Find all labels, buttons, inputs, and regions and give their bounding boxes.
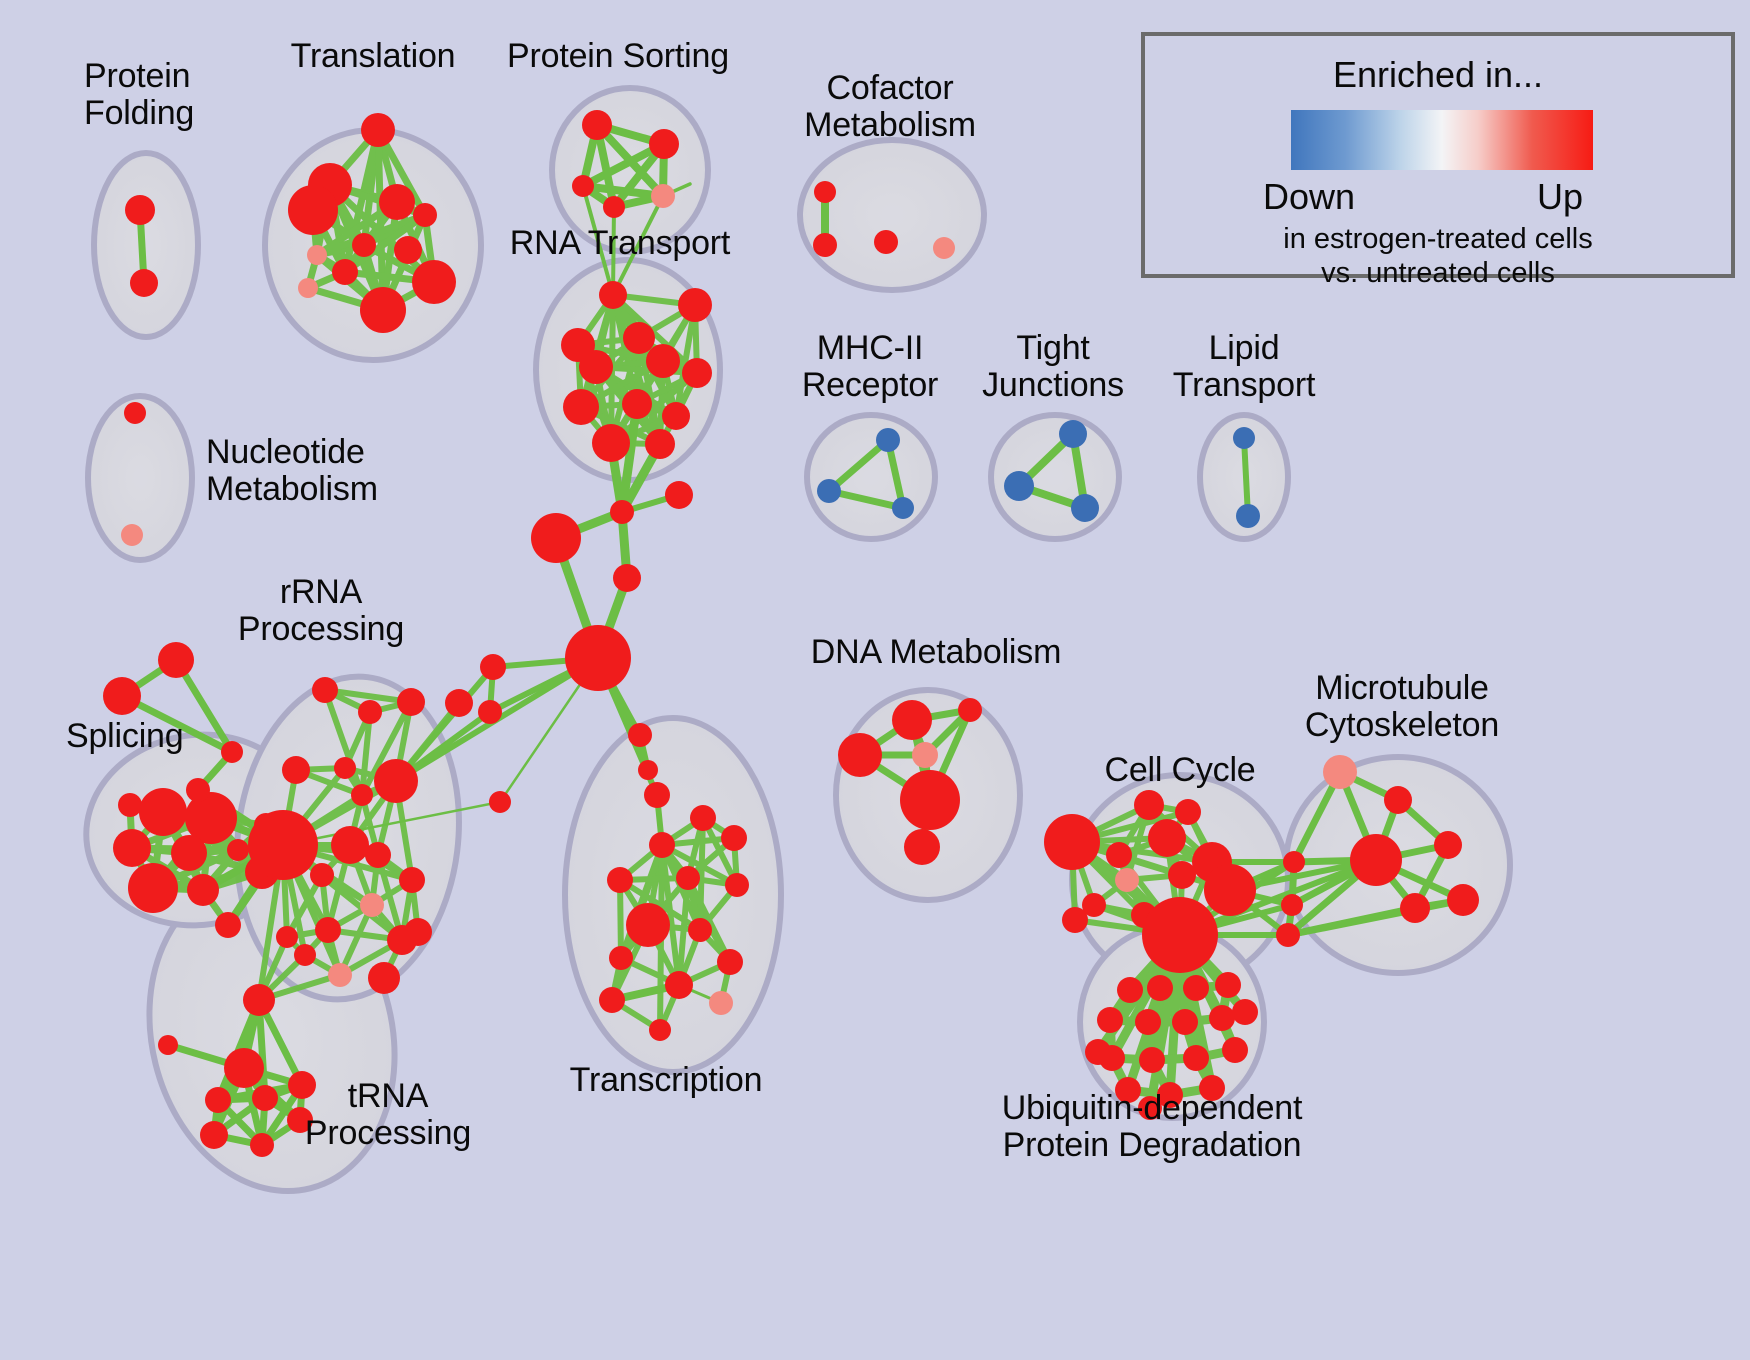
node [480,654,506,680]
node [599,281,627,309]
legend-up-label: Up [1537,176,1583,218]
node [331,826,369,864]
cluster-protein-folding [94,153,198,337]
node [1215,972,1241,998]
node [1236,504,1260,528]
label-protein-folding: Protein Folding [84,58,194,131]
legend-subtitle: in estrogen-treated cells vs. untreated … [1145,222,1731,290]
node [1209,1005,1235,1031]
node [1323,755,1357,789]
node [682,358,712,388]
node [1117,977,1143,1003]
node [379,184,415,220]
node [1148,819,1186,857]
node [1062,907,1088,933]
node [250,1133,274,1157]
node [649,129,679,159]
node [221,741,243,763]
node [103,677,141,715]
node [310,863,334,887]
node [610,500,634,524]
node [360,893,384,917]
node [365,842,391,868]
label-protein-sorting: Protein Sorting [507,38,729,75]
node [200,1121,228,1149]
node [360,287,406,333]
label-transcription: Transcription [570,1062,763,1099]
node [638,760,658,780]
node [1106,842,1132,868]
node [1384,786,1412,814]
node [361,113,395,147]
label-splicing: Splicing [66,718,183,755]
node [933,237,955,259]
node [139,788,187,836]
node [665,481,693,509]
node [592,424,630,462]
node [294,944,316,966]
node [205,1087,231,1113]
node [171,835,207,871]
node [628,723,652,747]
node [838,733,882,777]
node [1232,999,1258,1025]
label-cell-cycle: Cell Cycle [1104,752,1255,789]
node [646,344,680,378]
node [315,917,341,943]
node [334,757,356,779]
node [118,793,142,817]
node [1059,420,1087,448]
node [124,402,146,424]
node [622,389,652,419]
node [813,233,837,257]
node [1134,790,1164,820]
node [613,564,641,592]
node [1183,975,1209,1001]
node [814,181,836,203]
node [113,829,151,867]
node [904,829,940,865]
node [1097,1007,1123,1033]
node [626,903,670,947]
node [582,110,612,140]
node [874,230,898,254]
node [187,874,219,906]
node [224,1048,264,1088]
node [130,269,158,297]
node [1175,799,1201,825]
node [1400,893,1430,923]
node [709,991,733,1015]
node [817,479,841,503]
node [399,867,425,893]
node [413,203,437,227]
node [651,184,675,208]
node [186,778,210,802]
node [227,839,249,861]
node [282,756,310,784]
node [603,196,625,218]
node [298,278,318,298]
node [397,688,425,716]
node [125,195,155,225]
node [394,236,422,264]
node [1350,834,1402,886]
node [1276,923,1300,947]
node [572,175,594,197]
legend-color-gradient [1291,110,1593,170]
node [489,791,511,813]
node [717,949,743,975]
node [328,963,352,987]
node [609,946,633,970]
node [332,259,358,285]
node [531,513,581,563]
node [725,873,749,897]
node [676,866,700,890]
node [644,782,670,808]
label-microtubule-cytoskeleton: Microtubule Cytoskeleton [1305,670,1499,743]
node [1147,975,1173,1001]
node [1115,868,1139,892]
node [1434,831,1462,859]
node [1204,864,1256,916]
label-mhc-ii-receptor: MHC-II Receptor [802,330,938,403]
node [721,825,747,851]
node [1139,1047,1165,1073]
node [368,962,400,994]
label-cofactor-metabolism: Cofactor Metabolism [804,70,976,143]
node [1447,884,1479,916]
node [678,288,712,322]
node [158,1035,178,1055]
node [1142,897,1218,973]
node [900,770,960,830]
node [1281,894,1303,916]
node [243,984,275,1016]
node [892,700,932,740]
node [599,987,625,1013]
node [412,260,456,304]
node [121,524,143,546]
node [215,912,241,938]
legend-down-label: Down [1263,176,1355,218]
node [1044,814,1100,870]
node [1283,851,1305,873]
label-ubiquitin-degradation: Ubiquitin-dependent Protein Degradation [1002,1090,1303,1163]
node [276,926,298,948]
node [912,742,938,768]
enrichment-map-figure: Protein Folding Translation Protein Sort… [0,0,1750,1360]
label-dna-metabolism: DNA Metabolism [811,634,1061,671]
node [607,867,633,893]
cluster-mhc-ii-receptor [807,415,935,539]
node [1168,861,1196,889]
node [1099,1045,1125,1071]
label-translation: Translation [291,38,456,75]
node [623,322,655,354]
node [128,863,178,913]
node [690,805,716,831]
node [374,759,418,803]
node [248,810,318,880]
node [665,971,693,999]
node [1172,1009,1198,1035]
label-rrna-processing: rRNA Processing [238,574,404,647]
label-lipid-transport: Lipid Transport [1173,330,1315,403]
node [252,1085,278,1111]
node [352,233,376,257]
node [649,1019,671,1041]
node [688,918,712,942]
node [1071,494,1099,522]
node [445,689,473,717]
node [312,677,338,703]
label-nucleotide-metabolism: Nucleotide Metabolism [206,434,378,507]
node [876,428,900,452]
node [478,700,502,724]
legend-box: Enriched in... Down Up in estrogen-treat… [1141,32,1735,278]
node [565,625,631,691]
node [649,832,675,858]
legend-title: Enriched in... [1145,54,1731,96]
node [1233,427,1255,449]
node [1222,1037,1248,1063]
node [1004,471,1034,501]
node [307,245,327,265]
node [158,642,194,678]
label-trna-processing: tRNA Processing [305,1078,471,1151]
node [387,925,417,955]
label-rna-transport: RNA Transport [510,225,730,262]
node [579,350,613,384]
node [288,185,338,235]
node [892,497,914,519]
node [1135,1009,1161,1035]
node [351,784,373,806]
node [1183,1045,1209,1071]
node [358,700,382,724]
node [662,402,690,430]
node [958,698,982,722]
node [645,429,675,459]
node [563,389,599,425]
label-tight-junctions: Tight Junctions [982,330,1124,403]
